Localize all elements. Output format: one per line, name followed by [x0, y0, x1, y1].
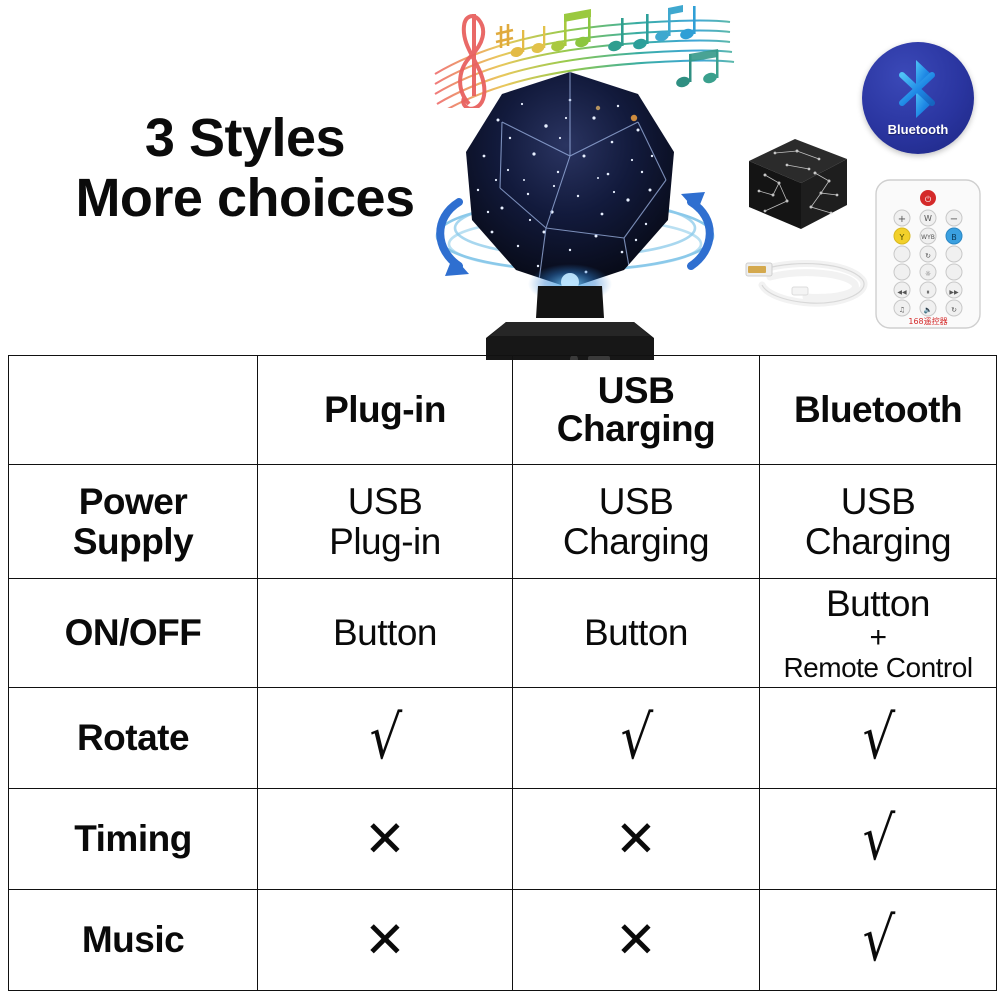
- svg-text:W: W: [924, 214, 932, 223]
- table-corner-cell: [9, 356, 258, 465]
- row-label-timing: Timing: [9, 789, 258, 890]
- cell-timing-plug-in: ✕: [258, 789, 513, 890]
- cell-music-plug-in: ✕: [258, 890, 513, 991]
- cell-power-supply-plug-in-line-2: Plug-in: [258, 522, 512, 561]
- cross-icon: ✕: [615, 814, 657, 864]
- row-label-on-off: ON/OFF: [9, 579, 258, 688]
- cross-icon: ✕: [364, 814, 406, 864]
- table-row-timing: Timing ✕ ✕ √: [9, 789, 997, 890]
- svg-text:☼: ☼: [925, 270, 931, 278]
- svg-text:🔈: 🔈: [924, 306, 933, 314]
- svg-text:B: B: [951, 233, 957, 242]
- column-header-usb-charging-line-2: Charging: [513, 410, 759, 448]
- table-row-power-supply: Power Supply USB Plug-in USB Charging US…: [9, 465, 997, 579]
- svg-text:⏸: ⏸: [926, 288, 930, 296]
- remote-control: ⏻ + W − Y WYB B ↻ ☼ ◀◀ ⏸ ▶▶ ♫ 🔈 ↻ 168: [872, 178, 984, 330]
- svg-text:♫: ♫: [899, 306, 905, 314]
- check-icon: √: [861, 910, 896, 970]
- svg-text:▶▶: ▶▶: [949, 289, 959, 296]
- column-header-plug-in: Plug-in: [258, 356, 513, 465]
- svg-text:WYB: WYB: [921, 234, 935, 241]
- cell-rotate-plug-in: √: [258, 688, 513, 789]
- page-title: 3 Styles More choices: [55, 108, 435, 229]
- table-row-rotate: Rotate √ √ √: [9, 688, 997, 789]
- cell-power-supply-usb-line-1: USB: [513, 482, 759, 521]
- svg-text:+: +: [898, 214, 906, 225]
- check-icon: √: [368, 708, 403, 768]
- cell-on-off-bluetooth-plus: +: [760, 623, 996, 653]
- row-label-rotate: Rotate: [9, 688, 258, 789]
- cell-on-off-bluetooth-remote: Remote Control: [760, 653, 996, 682]
- check-icon: √: [861, 809, 896, 869]
- constellation-gift-box: [735, 125, 855, 237]
- column-header-bluetooth: Bluetooth: [760, 356, 997, 465]
- svg-text:−: −: [950, 214, 958, 225]
- row-label-power-supply: Power Supply: [9, 465, 258, 579]
- cell-power-supply-usb: USB Charging: [513, 465, 760, 579]
- cell-on-off-bluetooth: Button + Remote Control: [760, 579, 997, 688]
- remote-footer-label: 168遥控器: [908, 316, 947, 326]
- star-projector-lamp: [438, 60, 703, 360]
- svg-text:↻: ↻: [925, 252, 931, 260]
- cell-music-bluetooth: √: [760, 890, 997, 991]
- bluetooth-rune-icon: [890, 56, 946, 122]
- row-label-power-supply-line-2: Supply: [9, 522, 257, 561]
- cell-power-supply-bluetooth-line-2: Charging: [760, 522, 996, 561]
- usb-cable: [740, 243, 875, 315]
- cross-icon: ✕: [364, 915, 406, 965]
- svg-text:⏻: ⏻: [925, 195, 932, 204]
- cell-music-usb: ✕: [513, 890, 760, 991]
- column-header-usb-charging-line-1: USB: [513, 372, 759, 410]
- cell-power-supply-usb-line-2: Charging: [513, 522, 759, 561]
- bluetooth-badge-label: Bluetooth: [862, 122, 974, 137]
- check-icon: √: [861, 708, 896, 768]
- cell-on-off-usb: Button: [513, 579, 760, 688]
- comparison-table: Plug-in USB Charging Bluetooth Power Sup…: [8, 355, 997, 991]
- headline-line-1: 3 Styles: [55, 108, 435, 168]
- check-icon: √: [619, 708, 654, 768]
- cell-on-off-bluetooth-line-1: Button: [826, 583, 930, 624]
- cell-power-supply-bluetooth-line-1: USB: [760, 482, 996, 521]
- cell-rotate-bluetooth: √: [760, 688, 997, 789]
- cell-on-off-plug-in: Button: [258, 579, 513, 688]
- row-label-power-supply-line-1: Power: [9, 482, 257, 521]
- table-header-row: Plug-in USB Charging Bluetooth: [9, 356, 997, 465]
- cross-icon: ✕: [615, 915, 657, 965]
- svg-text:↻: ↻: [951, 306, 957, 314]
- hero-banner: 3 Styles More choices: [0, 0, 1000, 355]
- cell-timing-usb: ✕: [513, 789, 760, 890]
- column-header-usb-charging: USB Charging: [513, 356, 760, 465]
- cell-power-supply-bluetooth: USB Charging: [760, 465, 997, 579]
- cell-rotate-usb: √: [513, 688, 760, 789]
- svg-text:Y: Y: [899, 233, 905, 242]
- table-row-music: Music ✕ ✕ √: [9, 890, 997, 991]
- bluetooth-badge: Bluetooth: [862, 42, 974, 154]
- row-label-music: Music: [9, 890, 258, 991]
- svg-text:◀◀: ◀◀: [897, 289, 907, 296]
- cell-power-supply-plug-in-line-1: USB: [258, 482, 512, 521]
- cell-power-supply-plug-in: USB Plug-in: [258, 465, 513, 579]
- headline-line-2: More choices: [55, 168, 435, 228]
- table-row-on-off: ON/OFF Button Button Button + Remote Con…: [9, 579, 997, 688]
- cell-timing-bluetooth: √: [760, 789, 997, 890]
